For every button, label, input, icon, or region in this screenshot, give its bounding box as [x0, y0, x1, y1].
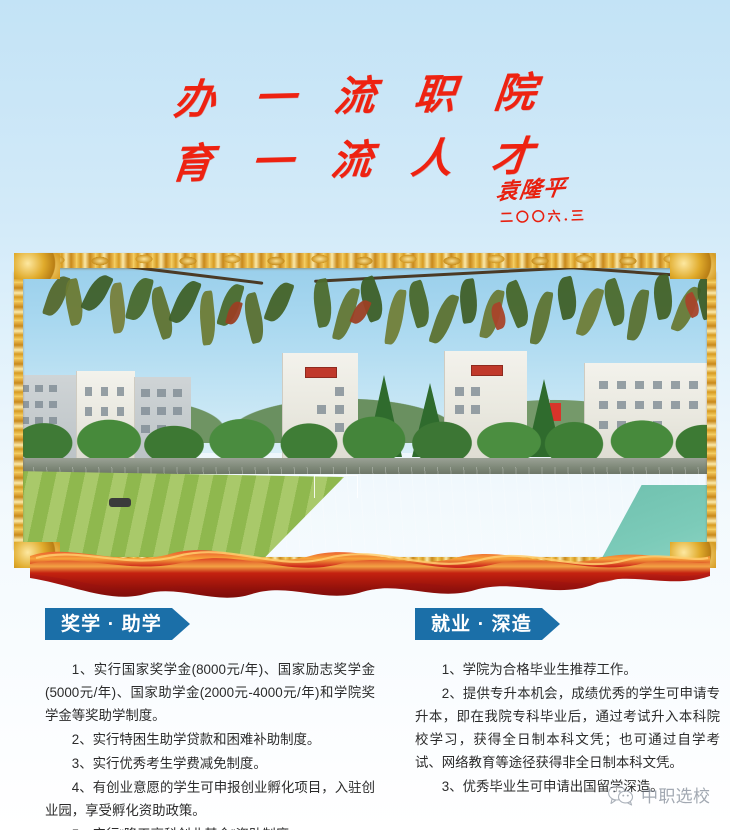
- wechat-icon: [608, 784, 634, 806]
- scholarship-banner-title: 奖学 · 助学: [61, 615, 162, 634]
- poster-root: 办 一 流 职 院 育 一 流 人 才 袁隆平 二〇〇六.三: [0, 0, 730, 830]
- scholarship-text: 1、实行国家奖学金(8000元/年)、国家励志奖学金(5000元/年)、国家助学…: [45, 658, 375, 830]
- wechat-watermark: 中职选校: [608, 782, 710, 807]
- campus-photo: [14, 253, 716, 568]
- employment-text: 1、学院为合格毕业生推荐工作。 2、提供专升本机会，成绩优秀的学生可申请专升本，…: [415, 658, 720, 798]
- employment-banner: 就业 · 深造: [415, 608, 542, 640]
- campus-photo-block: [14, 253, 716, 568]
- employment-item: 2、提供专升本机会，成绩优秀的学生可申请专升本，即在我院专科毕业后，通过考试升入…: [415, 682, 720, 774]
- goal-post: [314, 475, 358, 498]
- employment-item: 1、学院为合格毕业生推荐工作。: [415, 658, 720, 681]
- scholarship-item: 2、实行特困生助学贷款和困难补助制度。: [45, 728, 375, 751]
- banner-arrow-icon: [542, 608, 560, 640]
- banner-arrow-icon: [172, 608, 190, 640]
- calligraphy-line-1: 办 一 流 职 院: [172, 58, 552, 126]
- employment-column: 就业 · 深造 1、学院为合格毕业生推荐工作。 2、提供专升本机会，成绩优秀的学…: [415, 608, 720, 799]
- scholarship-item: 4、有创业意愿的学生可申报创业孵化项目，入驻创业园，享受孵化资助政策。: [45, 776, 375, 822]
- calligraphy-line-2: 育 一 流 人 才: [169, 122, 549, 190]
- calligraphy-signature: 袁隆平: [494, 170, 569, 207]
- wechat-watermark-text: 中职选校: [641, 782, 710, 807]
- scholarship-item: 1、实行国家奖学金(8000元/年)、国家励志奖学金(5000元/年)、国家助学…: [45, 658, 375, 727]
- employment-banner-title: 就业 · 深造: [431, 615, 532, 634]
- calligraphy-signature-date: 二〇〇六.三: [500, 205, 587, 226]
- calligraphy-header: 办 一 流 职 院 育 一 流 人 才 袁隆平 二〇〇六.三: [0, 0, 730, 248]
- scholarship-item: 3、实行优秀考生学费减免制度。: [45, 752, 375, 775]
- lawn-mower: [109, 498, 131, 507]
- scholarship-column: 奖学 · 助学 1、实行国家奖学金(8000元/年)、国家励志奖学金(5000元…: [45, 608, 375, 830]
- scholarship-banner: 奖学 · 助学: [45, 608, 172, 640]
- scholarship-item: 5、实行“隆平高科创业基金”资助制度。: [45, 823, 375, 830]
